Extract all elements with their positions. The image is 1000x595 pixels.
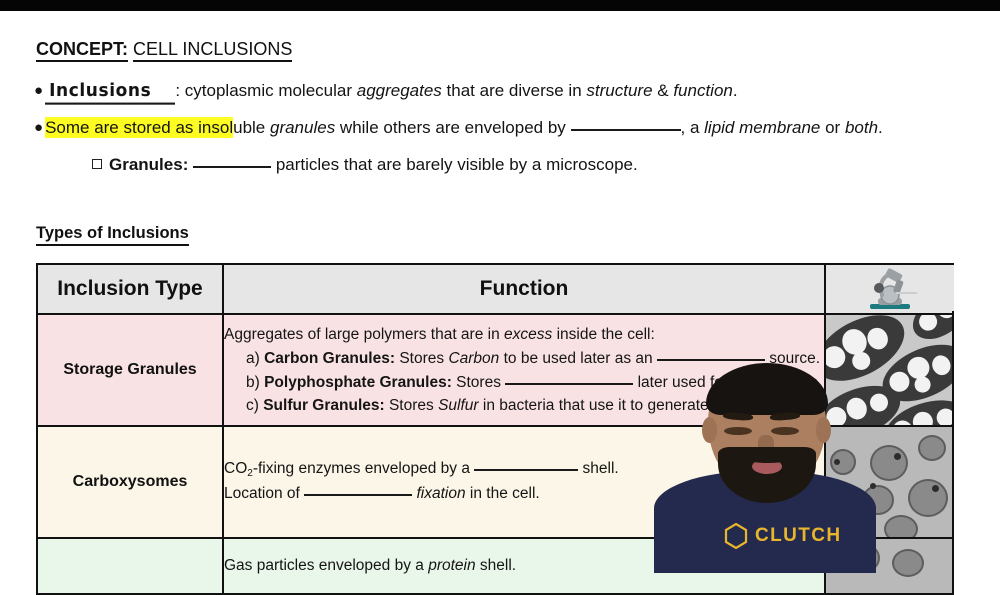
header-function: Function [223,264,825,314]
shirt-logo: CLUTCH [724,523,842,549]
fill-blank-3 [657,359,765,361]
row-type-gas-vesicles [37,538,223,594]
granules-term: Granules: [109,155,188,174]
row-type-storage-granules: Storage Granules [37,314,223,426]
presenter-ear-right [816,417,831,443]
fill-blank-2 [193,166,271,168]
highlighted-phrase: Some are stored as insol [45,117,233,138]
slide-canvas: CONCEPT: CELL INCLUSIONS ●Inclusions: cy… [0,11,1000,562]
fill-blank-6 [304,494,412,496]
top-black-bar [0,0,1000,11]
microscope-icon [826,265,952,313]
square-bullet-icon [92,159,102,169]
hexagon-icon [724,523,748,549]
bullet-granules-definition: Granules: particles that are barely visi… [92,155,638,175]
bullet-inclusions-definition: ●Inclusions: cytoplasmic molecular aggre… [34,81,738,104]
function-lead-1: Aggregates of large polymers that are in… [224,323,824,346]
presenter-ear-left [702,417,717,443]
bullet-storage-statement: ●Some are stored as insoluble granules w… [34,118,883,138]
presenter-eye-right [771,427,799,435]
bullet-3-text: particles that are barely visible by a m… [276,155,638,174]
section-title: Types of Inclusions [36,224,189,246]
fill-blank-5 [474,469,578,471]
handwritten-answer-inclusions: Inclusions [45,80,175,105]
concept-title: CELL INCLUSIONS [133,39,292,62]
presenter-hair [706,363,828,415]
page-title: CONCEPT: CELL INCLUSIONS [36,39,292,60]
bullet-2-text: uble granules while others are enveloped… [233,118,883,137]
fill-blank-1 [571,129,681,131]
fill-blank-4 [505,383,633,385]
row-type-carboxysomes: Carboxysomes [37,426,223,538]
webcam-presenter: CLUTCH [648,363,878,573]
presenter-mustache [740,449,796,463]
presenter-eye-left [724,427,752,435]
shirt-logo-text: CLUTCH [755,525,842,547]
bullet-dot-icon-2: ● [34,119,43,136]
bullet-1-text: : cytoplasmic molecular aggregates that … [175,81,737,100]
header-inclusion-type: Inclusion Type [37,264,223,314]
header-microscope-cell [825,264,953,314]
bullet-dot-icon: ● [34,82,43,99]
concept-label: CONCEPT: [36,39,128,62]
table-header-row: Inclusion Type Function [37,264,953,314]
